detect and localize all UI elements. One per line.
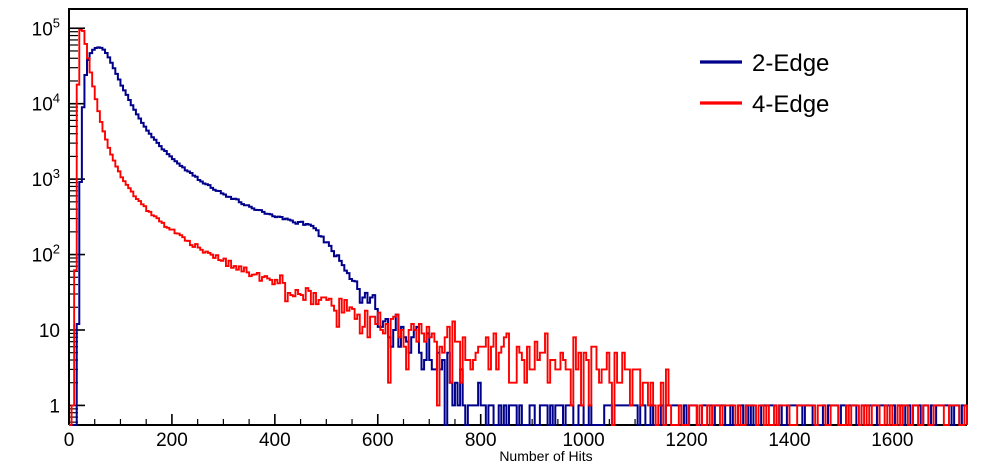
legend-label-1: 2-Edge xyxy=(752,50,829,77)
series-4-edge xyxy=(69,30,967,425)
series-2-edge xyxy=(69,47,967,425)
x-tick-label: 1400 xyxy=(768,430,810,451)
y-tick-label: 10 xyxy=(39,321,60,342)
chart-container: 02004006008001000120014001600 1101021031… xyxy=(0,0,996,472)
x-tick-label: 200 xyxy=(156,430,188,451)
series-group xyxy=(69,30,967,425)
x-tick-label: 800 xyxy=(465,430,497,451)
x-axis-title: Number of Hits xyxy=(499,448,592,464)
plot-frame xyxy=(69,9,967,425)
y-tick-label: 103 xyxy=(32,166,60,191)
x-tick-label: 400 xyxy=(259,430,291,451)
x-tick-label: 600 xyxy=(362,430,394,451)
chart-legend: 2-Edge4-Edge xyxy=(700,50,829,118)
chart-canvas: 02004006008001000120014001600 1101021031… xyxy=(0,0,996,472)
y-tick-label: 105 xyxy=(32,15,60,40)
y-tick-label: 104 xyxy=(32,91,60,116)
x-axis-title-text: Number of Hits xyxy=(499,448,592,464)
y-tick-label: 1 xyxy=(49,396,60,417)
x-tick-label: 0 xyxy=(64,430,75,451)
y-tick-label: 102 xyxy=(32,242,60,267)
legend-label-2: 4-Edge xyxy=(752,91,829,118)
x-tick-label: 1200 xyxy=(665,430,707,451)
x-tick-label: 1600 xyxy=(871,430,913,451)
y-axis-tick-labels: 110102103104105 xyxy=(32,15,60,417)
x-axis-tick-labels: 02004006008001000120014001600 xyxy=(64,430,914,451)
